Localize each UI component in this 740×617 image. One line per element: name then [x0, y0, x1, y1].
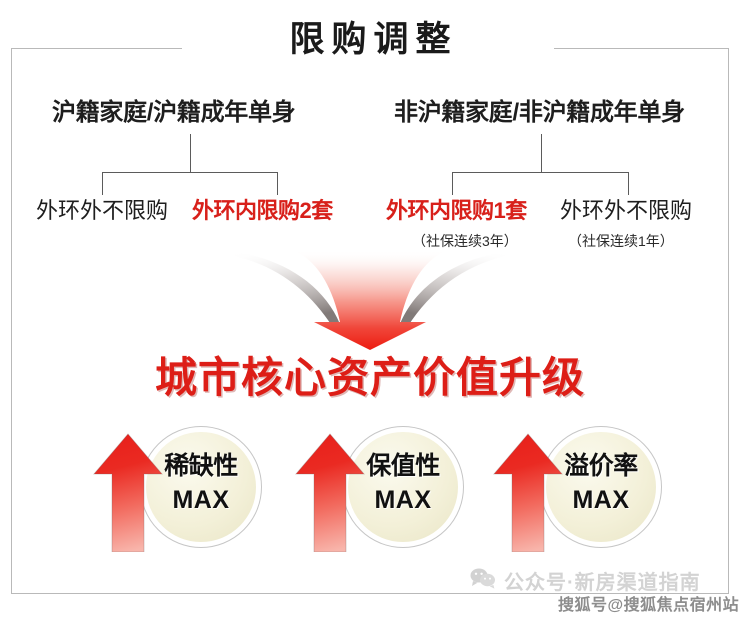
sohu-watermark-text: 搜狐号@搜狐焦点宿州站 — [558, 591, 739, 615]
badge-label: 稀缺性 MAX — [144, 454, 258, 513]
headline-text: 城市核心资产价值升级 — [0, 352, 740, 404]
page-title: 限购调整 — [0, 18, 740, 62]
badge-subtitle: MAX — [144, 488, 258, 513]
value-badge-scarcity: 稀缺性 MAX — [84, 424, 280, 552]
wechat-icon — [470, 567, 496, 595]
badge-title: 稀缺性 — [144, 454, 258, 479]
funnel-arrow-icon — [228, 250, 512, 350]
option-note-4: （社保连续1年） — [568, 231, 674, 251]
tree-stem-left — [190, 134, 191, 172]
badge-subtitle: MAX — [346, 488, 460, 513]
tree-leg-right-2 — [628, 172, 629, 195]
option-note-3: （社保连续3年） — [412, 231, 518, 251]
option-label-4: 外环外不限购 — [560, 197, 692, 225]
value-badge-retention: 保值性 MAX — [286, 424, 482, 552]
tree-bar-left — [102, 172, 278, 173]
option-label-2: 外环内限购2套 — [192, 197, 333, 225]
badge-label: 保值性 MAX — [346, 454, 460, 513]
column-heading-nonlocal: 非沪籍家庭/非沪籍成年单身 — [394, 98, 685, 128]
option-label-1: 外环外不限购 — [36, 197, 168, 225]
tree-bar-right — [452, 172, 629, 173]
tree-leg-left-1 — [102, 172, 103, 195]
infographic-poster: 限购调整 沪籍家庭/沪籍成年单身 非沪籍家庭/非沪籍成年单身 外环外不限购 外环… — [0, 0, 740, 617]
tree-stem-right — [541, 134, 542, 172]
tree-leg-left-2 — [277, 172, 278, 195]
option-label-3: 外环内限购1套 — [386, 197, 527, 225]
badge-title: 溢价率 — [544, 454, 658, 479]
tree-leg-right-1 — [452, 172, 453, 195]
badge-title: 保值性 — [346, 454, 460, 479]
column-heading-local: 沪籍家庭/沪籍成年单身 — [52, 98, 295, 128]
value-badge-premium: 溢价率 MAX — [484, 424, 680, 552]
badge-subtitle: MAX — [544, 488, 658, 513]
badge-label: 溢价率 MAX — [544, 454, 658, 513]
